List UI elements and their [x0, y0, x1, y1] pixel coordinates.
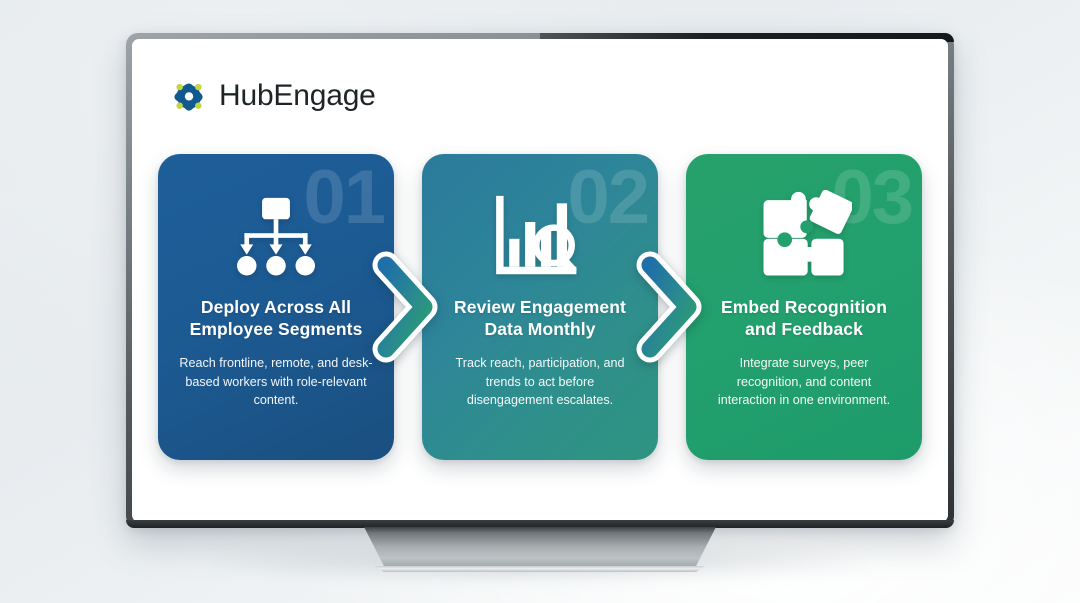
step-title-2: Review Engagement Data Monthly — [440, 296, 640, 340]
step-description-3: Integrate surveys, peer recognition, and… — [706, 354, 902, 410]
brand-logo: HubEngage — [170, 77, 376, 115]
monitor-frame: HubEngage 01 — [126, 33, 954, 528]
monitor-stand-base — [370, 566, 710, 572]
step-card-2[interactable]: 02 Review Engagement Data Monthly Track — [422, 154, 658, 460]
step-title-3: Embed Recognition and Feedback — [704, 296, 904, 340]
bar-chart-magnifier-icon — [491, 188, 589, 284]
steps-row: 01 — [132, 154, 948, 460]
puzzle-pieces-icon — [756, 188, 852, 284]
step-description-1: Reach frontline, remote, and desk-based … — [178, 354, 374, 410]
step-connector-1 — [394, 154, 422, 460]
chevron-right-icon — [641, 259, 703, 355]
step-card-1[interactable]: 01 — [158, 154, 394, 460]
monitor-stand-neck — [356, 527, 724, 569]
brand-name: HubEngage — [219, 79, 376, 113]
step-card-3[interactable]: 03 — [686, 154, 922, 460]
step-title-1: Deploy Across All Employee Segments — [176, 296, 376, 340]
hubengage-star-people-logo-icon — [170, 77, 208, 115]
step-connector-2 — [658, 154, 686, 460]
step-description-2: Track reach, participation, and trends t… — [442, 354, 638, 410]
chevron-right-icon — [377, 259, 439, 355]
monitor-screen: HubEngage 01 — [132, 39, 948, 522]
org-chart-icon — [224, 188, 328, 284]
